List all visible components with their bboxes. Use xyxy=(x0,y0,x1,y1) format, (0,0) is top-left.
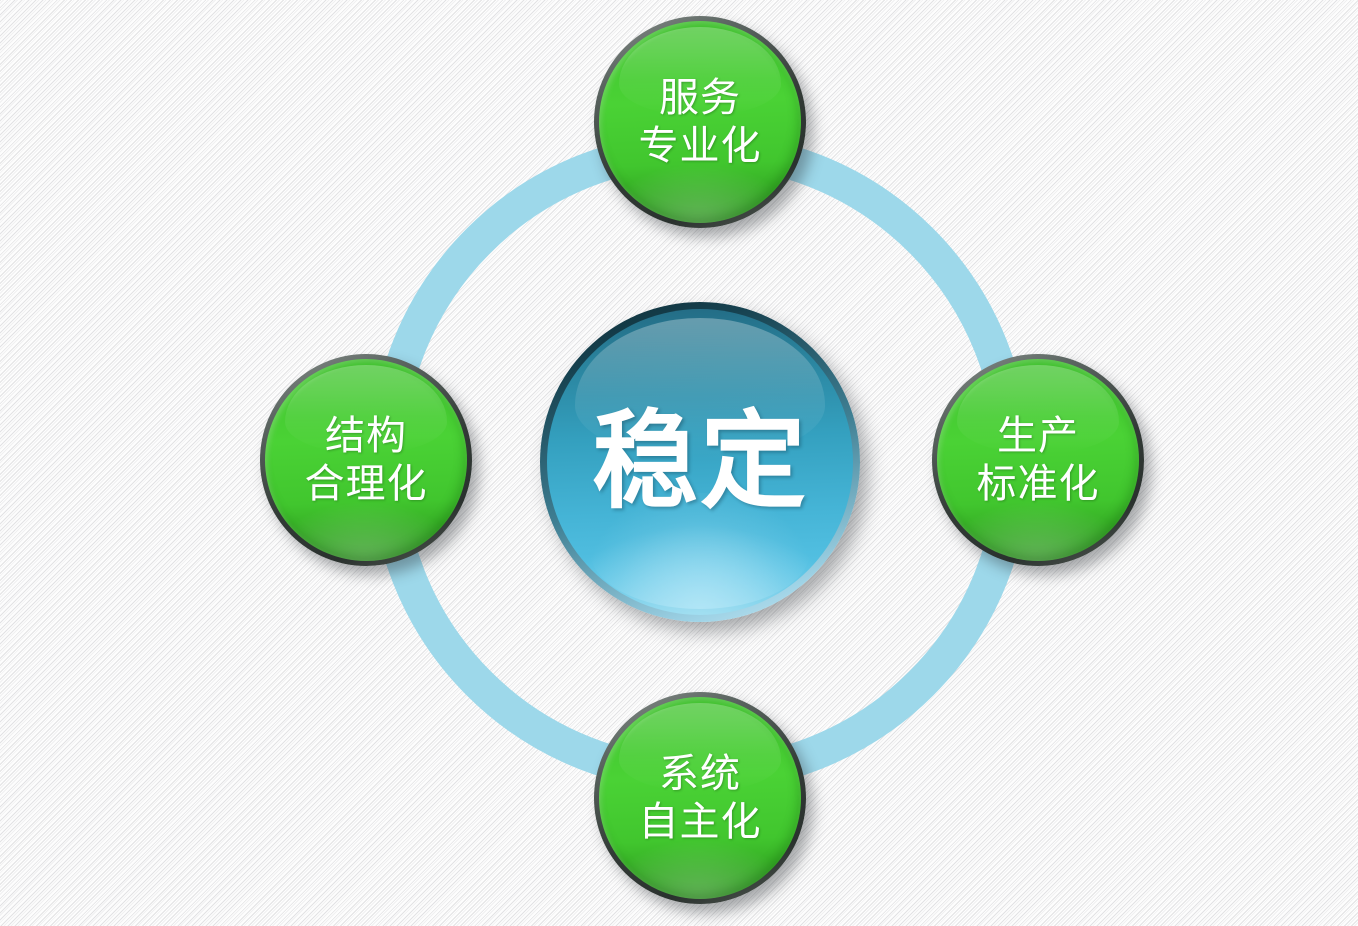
node-left-label: 结构 合理化 xyxy=(260,354,472,566)
node-bottom[interactable]: 系统 自主化 xyxy=(594,692,806,904)
node-bottom-label-line2: 自主化 xyxy=(639,799,762,845)
node-top-label-line1: 服务 xyxy=(659,75,741,121)
node-right-label: 生产 标准化 xyxy=(932,354,1144,566)
node-bottom-label: 系统 自主化 xyxy=(594,692,806,904)
node-right[interactable]: 生产 标准化 xyxy=(932,354,1144,566)
node-left-label-line2: 合理化 xyxy=(305,461,428,507)
node-bottom-label-line1: 系统 xyxy=(659,751,741,797)
node-top-label-line2: 专业化 xyxy=(639,123,762,169)
node-top-label: 服务 专业化 xyxy=(594,16,806,228)
diagram-canvas: 稳定 服务 专业化 生产 标准化 系统 xyxy=(0,0,1358,926)
node-right-label-line1: 生产 xyxy=(997,413,1079,459)
node-left[interactable]: 结构 合理化 xyxy=(260,354,472,566)
node-right-label-line2: 标准化 xyxy=(977,461,1100,507)
node-top[interactable]: 服务 专业化 xyxy=(594,16,806,228)
center-node[interactable]: 稳定 xyxy=(540,302,860,622)
node-left-label-line1: 结构 xyxy=(325,413,407,459)
center-node-label: 稳定 xyxy=(540,302,860,622)
